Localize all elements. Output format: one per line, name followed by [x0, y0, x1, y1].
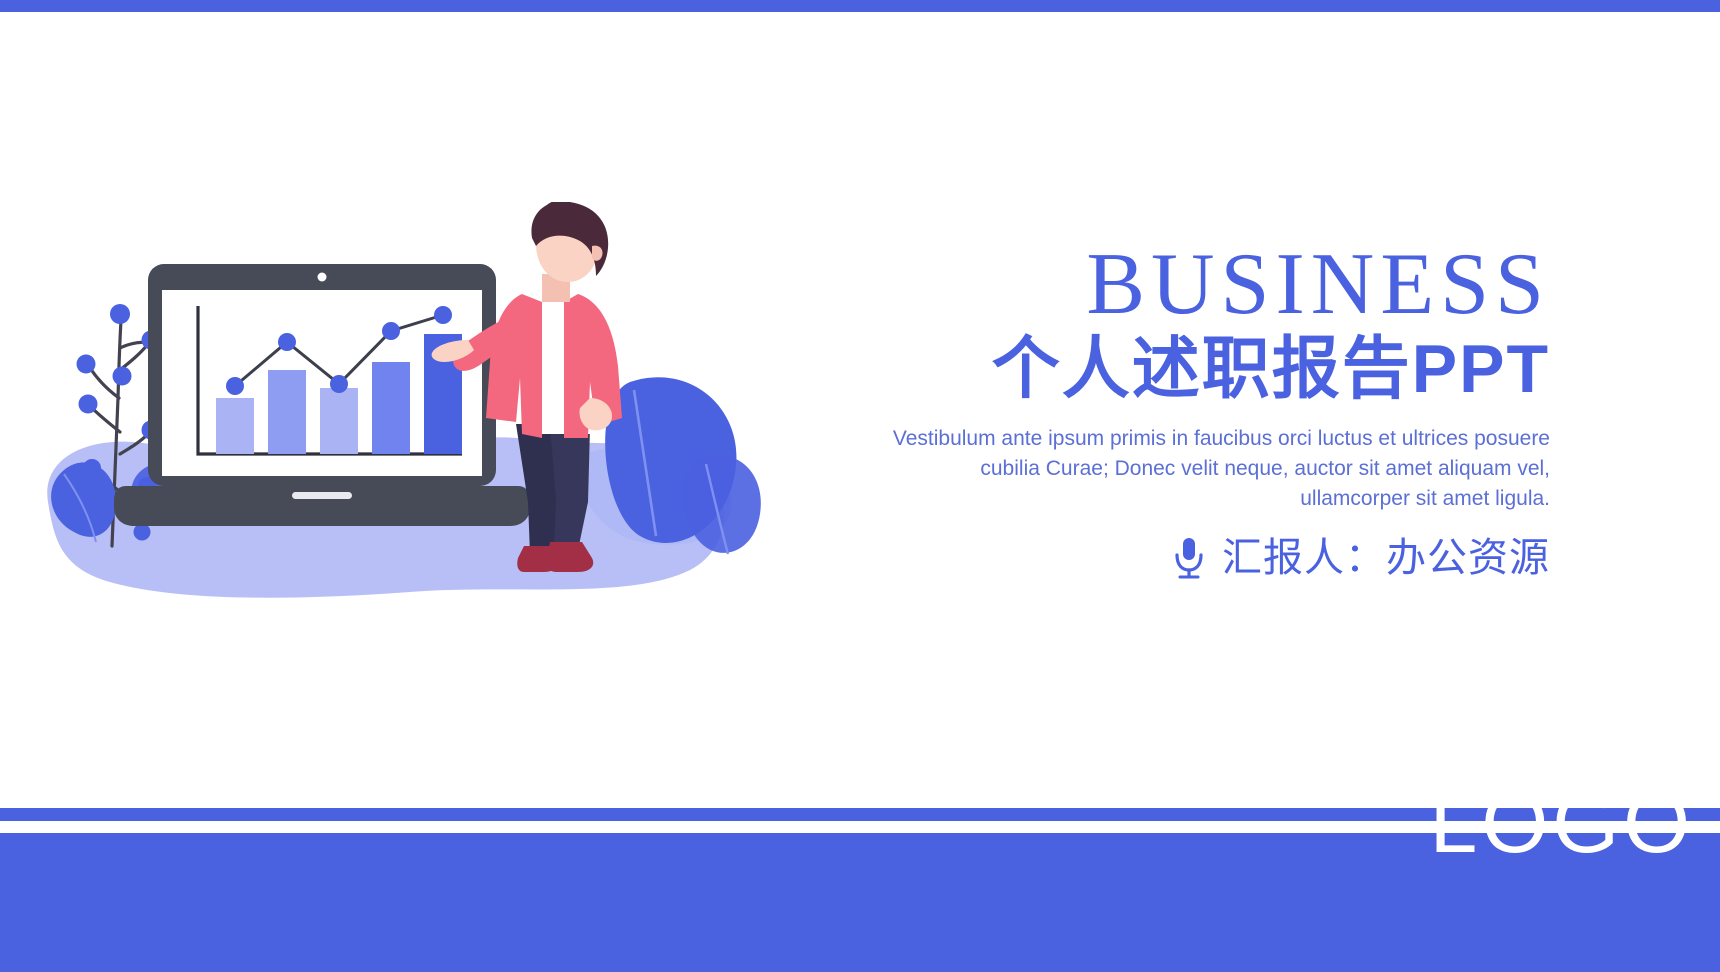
hero-subtitle: Vestibulum ante ipsum primis in faucibus…	[880, 424, 1550, 513]
laptop-trackpad-notch	[292, 492, 352, 499]
presenter-row: 汇报人：办公资源	[880, 536, 1550, 580]
hero-illustration	[30, 202, 770, 622]
logo-text: LOGO	[1429, 780, 1694, 866]
chart-bar	[216, 398, 254, 454]
chart-bar	[268, 370, 306, 454]
page-title-en: BUSINESS	[880, 242, 1550, 328]
microphone-icon	[1172, 536, 1206, 580]
chart-bar	[320, 388, 358, 454]
hero-copy: BUSINESS 个人述职报告PPT Vestibulum ante ipsum…	[880, 242, 1550, 580]
laptop	[114, 264, 530, 526]
presenter-label: 汇报人：办公资源	[1222, 538, 1550, 578]
laptop-camera	[318, 273, 327, 282]
top-accent-bar	[0, 0, 1720, 12]
slide-stage: BUSINESS 个人述职报告PPT Vestibulum ante ipsum…	[0, 12, 1720, 808]
chart-bar	[372, 362, 410, 454]
page-title-cn: 个人述职报告PPT	[880, 330, 1550, 408]
